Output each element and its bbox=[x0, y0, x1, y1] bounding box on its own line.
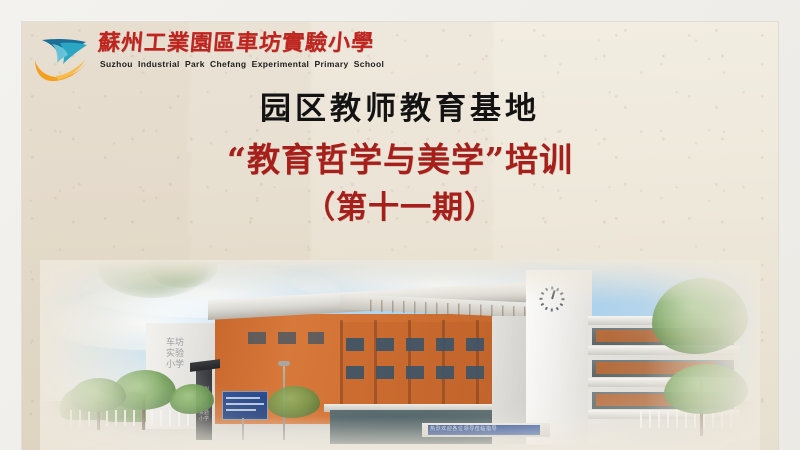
photo-direction-sign bbox=[222, 391, 268, 420]
photo-window-row bbox=[248, 332, 324, 344]
slide-root: 蘇州工業園區車坊實驗小學 Suzhou Industrial Park Chef… bbox=[0, 0, 800, 450]
photo-fence bbox=[70, 410, 190, 426]
school-name-chinese: 蘇州工業園區車坊實驗小學 bbox=[97, 31, 385, 57]
title-block: 园区教师教育基地 “教育哲学与美学”培训 （第十一期） bbox=[22, 94, 778, 224]
campus-photo-image: 车坊 实验 小学 bbox=[40, 260, 760, 450]
school-name-english: Suzhou Industrial Park Chefang Experimen… bbox=[100, 59, 384, 69]
photo-tree bbox=[664, 364, 748, 414]
campus-photo: 车坊 实验 小学 bbox=[40, 260, 760, 450]
clock-hand bbox=[551, 290, 555, 299]
photo-tree bbox=[268, 386, 320, 418]
paper-background: 蘇州工業園區車坊實驗小學 Suzhou Industrial Park Chef… bbox=[22, 22, 778, 450]
title-line-3: （第十一期） bbox=[22, 193, 778, 224]
school-header: 蘇州工業園區車坊實驗小學 Suzhou Industrial Park Chef… bbox=[30, 28, 384, 84]
clock-face-icon bbox=[537, 284, 567, 314]
title-line-1: 园区教师教育基地 bbox=[22, 94, 778, 125]
title-line-2: “教育哲学与美学”培训 bbox=[22, 143, 778, 176]
bird-swoosh-logo-icon bbox=[30, 30, 96, 84]
photo-lamp-head bbox=[278, 361, 290, 366]
photo-welcome-banner: 热烈欢迎各位领导莅临指导 bbox=[428, 425, 540, 435]
photo-banner-text: 热烈欢迎各位领导莅临指导 bbox=[430, 426, 497, 433]
photo-wall-characters: 车坊 实验 小学 bbox=[162, 338, 188, 371]
photo-sign-post bbox=[242, 418, 244, 440]
photo-tree bbox=[170, 384, 214, 414]
school-name-block: 蘇州工業園區車坊實驗小學 Suzhou Industrial Park Chef… bbox=[98, 31, 384, 69]
photo-tree bbox=[70, 378, 126, 412]
